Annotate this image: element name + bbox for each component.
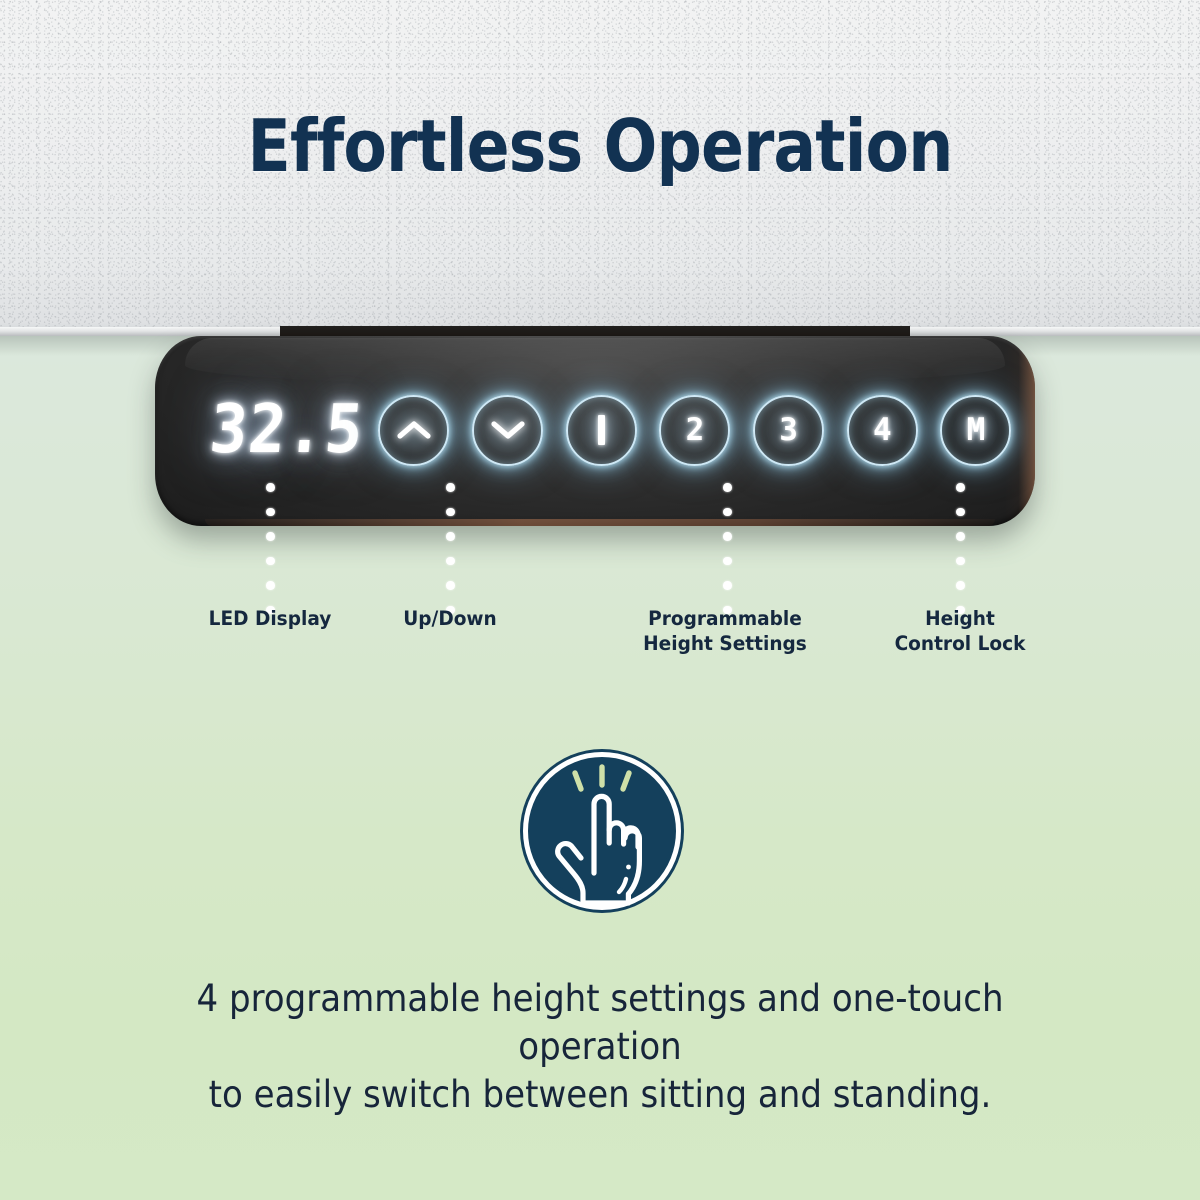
control-panel-assembly: 32.5 — [155, 332, 1035, 530]
preset-4-glyph: 4 — [873, 415, 892, 446]
panel-gloss — [185, 338, 1005, 384]
callout-programmable-settings: Programmable Height Settings — [603, 606, 846, 656]
callout-control-lock: Height Control Lock — [846, 606, 1074, 656]
button-up[interactable] — [367, 380, 461, 480]
button-ring: 4 — [847, 395, 918, 466]
button-preset-1[interactable] — [554, 380, 648, 480]
button-down[interactable] — [461, 380, 555, 480]
touch-hand-icon — [518, 747, 686, 915]
button-ring — [472, 395, 543, 466]
button-preset-3[interactable]: 3 — [742, 380, 836, 480]
button-ring: 2 — [659, 395, 730, 466]
preset-2-glyph: 2 — [686, 415, 705, 446]
preset-3-glyph: 3 — [779, 415, 798, 446]
panel-bottom-rim — [205, 519, 995, 526]
button-memory[interactable]: M — [929, 380, 1023, 480]
touch-badge — [518, 747, 686, 915]
led-display: 32.5 — [213, 385, 361, 471]
button-preset-2[interactable]: 2 — [648, 380, 742, 480]
button-ring: 3 — [753, 395, 824, 466]
control-panel[interactable]: 32.5 — [155, 336, 1035, 526]
chevron-up-icon — [397, 419, 431, 441]
infographic-stage: Effortless Operation 32.5 — [0, 0, 1200, 1200]
button-ring — [378, 395, 449, 466]
button-row: 2 3 4 M — [367, 380, 1023, 480]
button-preset-4[interactable]: 4 — [835, 380, 929, 480]
page-title: Effortless Operation — [72, 104, 1128, 188]
button-ring — [566, 395, 637, 466]
caption-text: 4 programmable height settings and one-t… — [140, 975, 1060, 1119]
memory-glyph: M — [967, 415, 986, 446]
chevron-down-icon — [491, 419, 525, 441]
callout-up-down: Up/Down — [336, 606, 564, 631]
preset-1-glyph — [598, 415, 605, 445]
button-ring: M — [940, 395, 1011, 466]
